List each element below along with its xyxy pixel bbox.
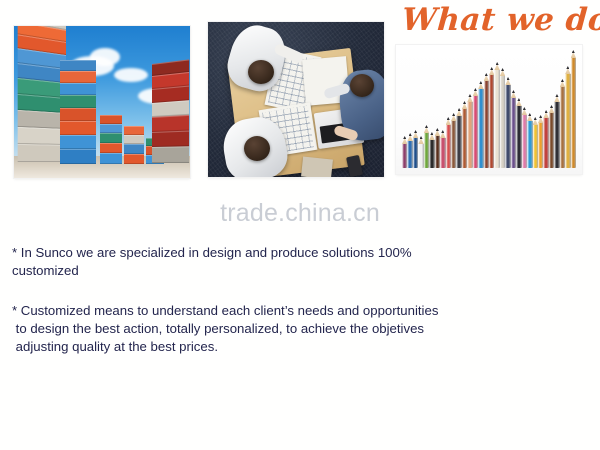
pencil-graphite-tip — [501, 68, 504, 71]
pencil-chart-scene — [396, 45, 582, 174]
person-head — [244, 136, 270, 161]
pencil-graphite-tip — [545, 110, 548, 113]
image-team-meeting — [208, 22, 384, 177]
image-colored-pencils-chart — [396, 45, 582, 174]
team-meeting-scene — [208, 22, 384, 177]
pencil-graphite-tip — [539, 115, 542, 118]
paragraph-line: adjusting quality at the best prices. — [12, 338, 588, 356]
pencil-graphite-tip — [507, 77, 510, 80]
pencil-graphite-tip — [512, 90, 515, 93]
pencil-graphite-tip — [496, 62, 499, 65]
paragraph-line: to design the best action, totally perso… — [12, 320, 588, 338]
container-stack — [60, 60, 96, 164]
pencil-graphite-tip — [479, 81, 482, 84]
pencil-graphite-tip — [452, 113, 455, 116]
image-shipping-containers — [14, 26, 190, 178]
slide-canvas: What we do? — [0, 0, 600, 450]
paragraph-line: customized — [12, 262, 588, 280]
pencil-graphite-tip — [414, 130, 417, 133]
pencil-graphite-tip — [550, 105, 553, 108]
cloud-icon — [114, 68, 148, 82]
pencil-bar — [571, 50, 576, 168]
shipping-containers-scene — [14, 26, 190, 178]
pencil-barrel — [571, 58, 576, 168]
pencil-graphite-tip — [458, 108, 461, 111]
paragraph-line: * In Sunco we are specialized in design … — [12, 244, 588, 262]
person-head — [350, 74, 374, 97]
pencil-graphite-tip — [447, 117, 450, 120]
pencil-graphite-tip — [436, 128, 439, 131]
pencil-graphite-tip — [534, 117, 537, 120]
pencil-graphite-tip — [420, 136, 423, 139]
container-stack — [124, 126, 144, 164]
pencil-graphite-tip — [430, 132, 433, 135]
paragraph-customization: * Customized means to understand each cl… — [12, 302, 588, 356]
pencil-graphite-tip — [485, 73, 488, 76]
pencil-graphite-tip — [474, 88, 477, 91]
pencil-graphite-tip — [555, 94, 558, 97]
notebook — [301, 156, 333, 177]
pencil-graphite-tip — [517, 98, 520, 101]
pencil-bar-group — [402, 50, 576, 168]
container-stack — [18, 26, 66, 162]
pencil-graphite-tip — [409, 133, 412, 136]
pencil-graphite-tip — [425, 125, 428, 128]
pencil-graphite-tip — [468, 94, 471, 97]
pencil-graphite-tip — [463, 101, 466, 104]
paragraph-line: * Customized means to understand each cl… — [12, 302, 588, 320]
pencil-graphite-tip — [490, 67, 493, 70]
pencil-graphite-tip — [441, 130, 444, 133]
pencil-graphite-tip — [523, 107, 526, 110]
pencil-graphite-tip — [561, 79, 564, 82]
container-stack — [100, 115, 122, 164]
pencil-graphite-tip — [572, 50, 575, 53]
pencil-graphite-tip — [566, 66, 569, 69]
container-stack — [152, 59, 189, 163]
pencil-graphite-tip — [403, 136, 406, 139]
pencil-graphite-tip — [528, 113, 531, 116]
person-head — [248, 60, 274, 84]
page-title: What we do? — [401, 1, 600, 39]
watermark-text: trade.china.cn — [196, 198, 404, 228]
paragraph-specialization: * In Sunco we are specialized in design … — [12, 244, 588, 280]
